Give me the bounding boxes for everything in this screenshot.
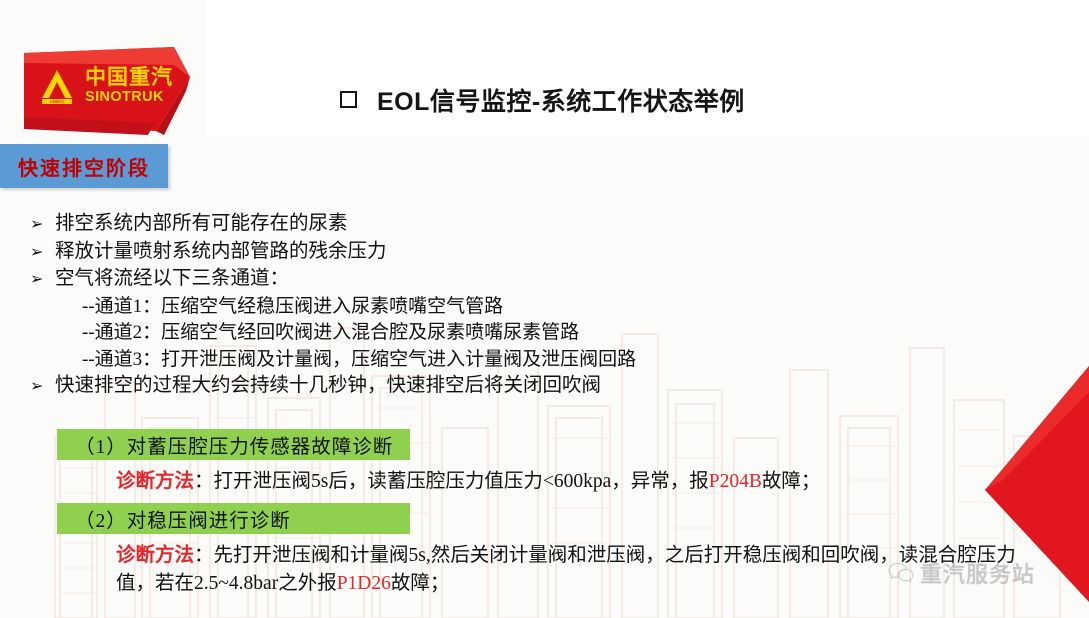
page-title-text: EOL信号监控-系统工作状态举例: [377, 88, 745, 116]
diagnostic-heading-1-text: （1）对蓄压腔压力传感器故障诊断: [75, 430, 393, 459]
list-item: ➢ 排空系统内部所有可能存在的尿素: [30, 211, 930, 239]
diagnostic-heading-1: （1）对蓄压腔压力传感器故障诊断: [57, 429, 410, 460]
diagnostic-method-2: 诊断方法：先打开泄压阀和计量阀5s,然后关闭计量阀和泄压阀，之后打开稳压阀和回吹…: [116, 542, 1016, 598]
svg-text:CNHTC: CNHTC: [50, 99, 64, 104]
page-title: EOL信号监控-系统工作状态举例: [340, 82, 745, 118]
slide-canvas: CNHTC 中国重汽 SINOTRUK EOL信号监控-系统工作状态举例 快速排…: [0, 0, 1089, 618]
dtc-code-p204b: P204B: [709, 471, 762, 492]
list-item-text: 排空系统内部所有可能存在的尿素: [55, 211, 348, 238]
title-bullet-square-icon: [340, 91, 357, 108]
phase-tab[interactable]: 快速排空阶段: [0, 144, 168, 188]
list-item-text: 空气将流经以下三条通道：: [55, 266, 289, 293]
list-item-text: 快速排空的过程大约会持续十几秒钟，快速排空后将关闭回吹阀: [55, 373, 601, 400]
phase-tab-label: 快速排空阶段: [18, 152, 150, 181]
diagnostic-method-text: 打开泄压阀5s后，读蓄压腔压力值压力<600kpa，异常，报: [214, 471, 709, 492]
list-item: ➢ 空气将流经以下三条通道：: [30, 266, 930, 294]
body-bullet-list: ➢ 排空系统内部所有可能存在的尿素 ➢ 释放计量喷射系统内部管路的残余压力 ➢ …: [30, 211, 930, 401]
diagnostic-heading-2-text: （2）对稳压阀进行诊断: [75, 504, 291, 533]
list-item: ➢ 快速排空的过程大约会持续十几秒钟，快速排空后将关闭回吹阀: [30, 373, 930, 401]
dtc-code-p1d26: P1D26: [337, 573, 391, 594]
arrow-bullet-icon: ➢: [30, 240, 55, 267]
logo-chinese-name: 中国重汽: [85, 67, 173, 88]
arrow-bullet-icon: ➢: [30, 267, 55, 294]
list-item-text: 释放计量喷射系统内部管路的残余压力: [55, 239, 387, 266]
diagnostic-method-label: 诊断方法: [116, 471, 194, 492]
diagnostic-heading-2: （2）对稳压阀进行诊断: [57, 503, 410, 534]
channel-item: --通道3：打开泄压阀及计量阀，压缩空气进入计量阀及泄压阀回路: [30, 347, 930, 374]
diagnostic-method-text-tail: 故障；: [391, 573, 450, 594]
channel-item: --通道2：压缩空气经回吹阀进入混合腔及尿素喷嘴尿素管路: [30, 320, 930, 347]
diagnostic-method-label: 诊断方法: [116, 545, 194, 566]
diagnostic-method-1: 诊断方法：打开泄压阀5s后，读蓄压腔压力值压力<600kpa，异常，报P204B…: [116, 468, 820, 496]
diagnostic-method-sep: ：: [194, 545, 214, 566]
channel-item: --通道1：压缩空气经稳压阀进入尿素喷嘴空气管路: [30, 294, 930, 321]
diagnostic-method-text-tail: 故障；: [762, 471, 821, 492]
logo-english-name: SINOTRUK: [85, 90, 173, 105]
sinotruk-logo: CNHTC 中国重汽 SINOTRUK: [24, 47, 190, 135]
diagnostic-method-sep: ：: [194, 471, 214, 492]
list-item: ➢ 释放计量喷射系统内部管路的残余压力: [30, 239, 930, 267]
arrow-bullet-icon: ➢: [30, 212, 55, 239]
arrow-bullet-icon: ➢: [30, 374, 55, 401]
diagnostic-method-text: 先打开泄压阀和计量阀5s,然后关闭计量阀和泄压阀，之后打开稳压阀和回吹阀，读混合…: [116, 545, 1016, 594]
cnhtc-emblem-icon: CNHTC: [36, 65, 78, 107]
